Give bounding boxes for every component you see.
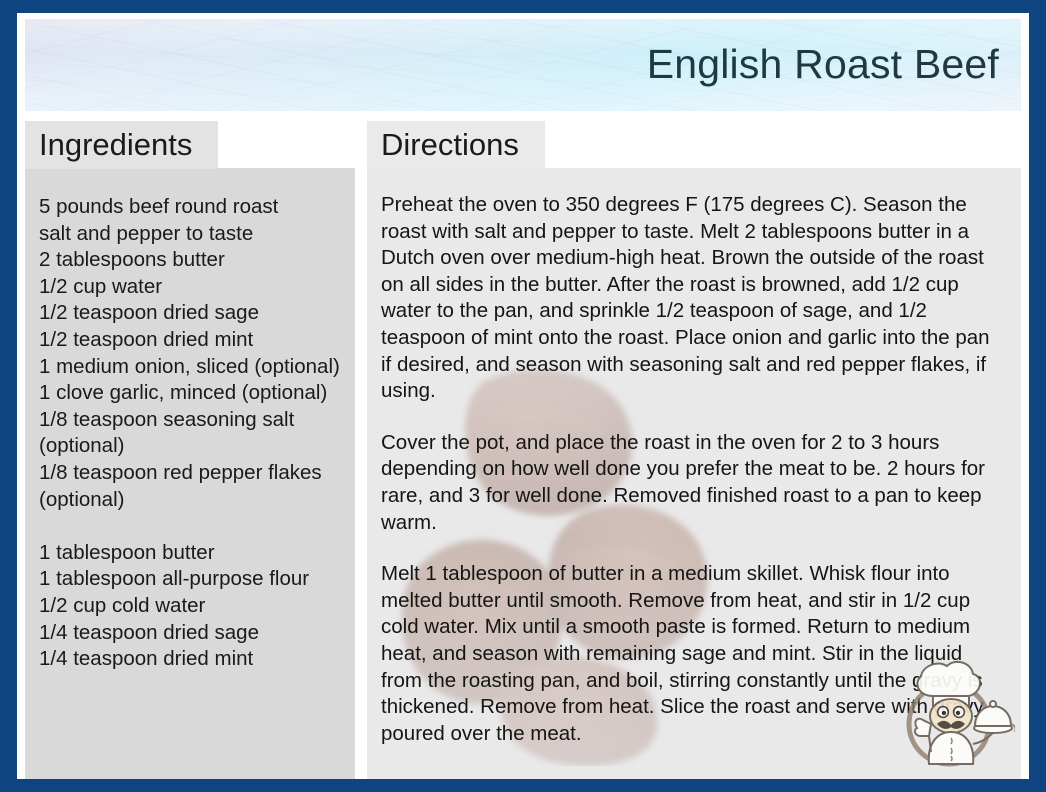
directions-section: Directions [367, 121, 1021, 779]
ingredients-list: 5 pounds beef round roast salt and peppe… [25, 168, 355, 673]
directions-step: Preheat the oven to 350 degrees F (175 d… [381, 192, 1005, 405]
header-banner: English Roast Beef [25, 19, 1021, 111]
chef-mascot-logo [889, 652, 1015, 772]
directions-heading: Directions [367, 121, 545, 169]
recipe-title: English Roast Beef [647, 41, 999, 88]
directions-panel: Preheat the oven to 350 degrees F (175 d… [367, 168, 1021, 779]
ingredients-section: Ingredients 5 pounds beef round roast sa… [25, 121, 355, 779]
ingredients-panel: 5 pounds beef round roast salt and peppe… [25, 168, 355, 779]
recipe-card: English Roast Beef Ingredients 5 pounds … [0, 0, 1046, 792]
directions-step: Cover the pot, and place the roast in th… [381, 430, 1005, 536]
ingredients-heading: Ingredients [25, 121, 218, 169]
recipe-page: English Roast Beef Ingredients 5 pounds … [17, 13, 1029, 779]
